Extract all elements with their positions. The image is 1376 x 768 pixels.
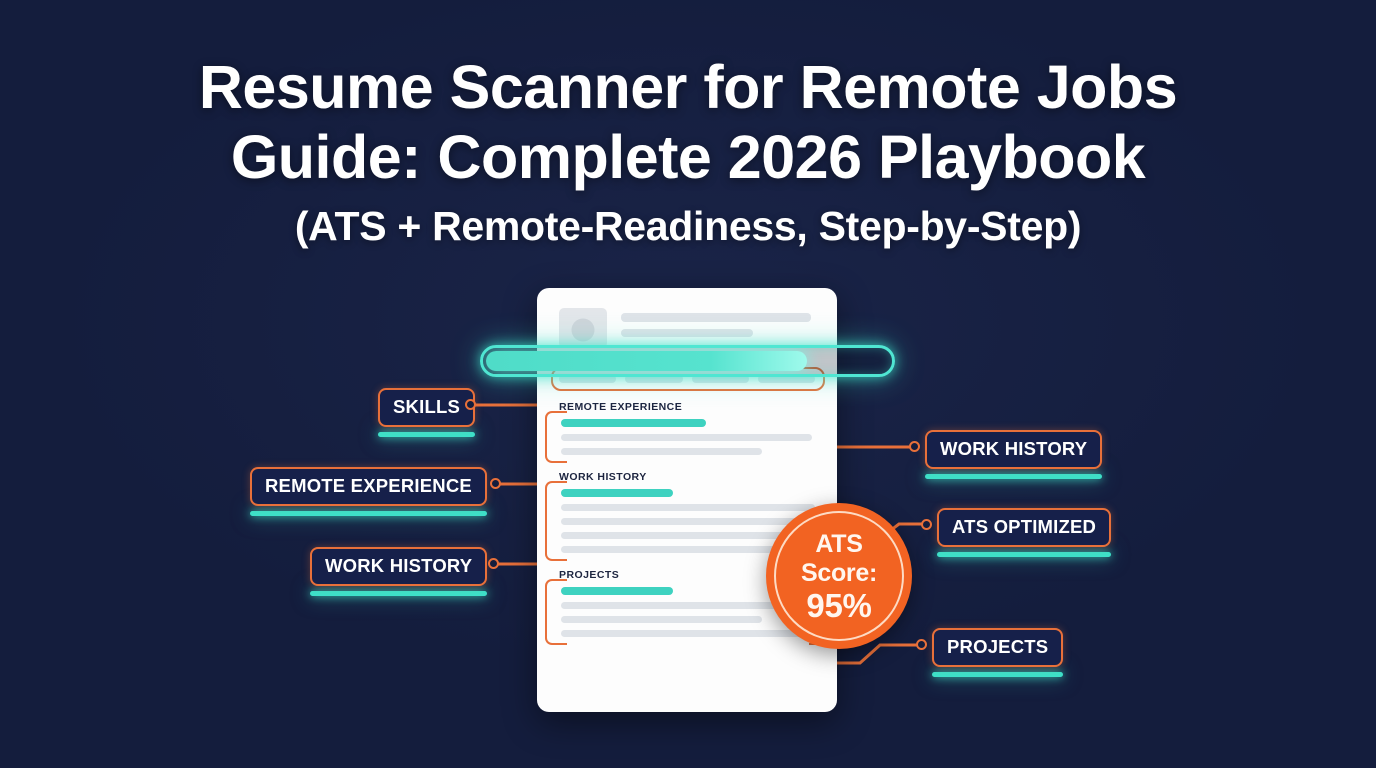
callout-right-work-history-label: WORK HISTORY [925,430,1102,469]
ats-badge-line-1: ATS [815,530,862,558]
infographic-canvas: Resume Scanner for Remote Jobs Guide: Co… [0,0,1376,768]
callout-left-skills[interactable]: SKILLS [378,388,475,437]
callout-right-ats-optimized-dot [921,519,932,530]
heading-block: Resume Scanner for Remote Jobs Guide: Co… [0,52,1376,254]
resume-header [559,308,815,348]
page-title-line-2: Guide: Complete 2026 Playbook [0,122,1376,192]
callout-left-work-history[interactable]: WORK HISTORY [310,547,487,596]
callout-right-work-history-dot [909,441,920,452]
projects-bracket-left [545,579,567,645]
resume-section-label-work-history: WORK HISTORY [559,471,815,483]
ats-badge-line-2: Score: [801,559,877,587]
resume-section-label-remote-experience: REMOTE EXPERIENCE [559,401,815,413]
callout-right-work-history[interactable]: WORK HISTORY [925,430,1102,479]
scanner-progress-fill [486,351,807,371]
callout-right-ats-optimized[interactable]: ATS OPTIMIZED [937,508,1111,557]
avatar [559,308,607,348]
callout-right-projects-dot [916,639,927,650]
callout-right-ats-optimized-label: ATS OPTIMIZED [937,508,1111,547]
work-history-bracket [545,481,567,561]
callout-right-ats-optimized-underline [937,552,1111,557]
callout-left-work-history-label: WORK HISTORY [310,547,487,586]
callout-left-skills-label: SKILLS [378,388,475,427]
callout-left-work-history-dot [488,558,499,569]
callout-left-remote-experience-dot [490,478,501,489]
scanner-progress-bar[interactable] [480,345,895,377]
callout-right-projects[interactable]: PROJECTS [932,628,1063,677]
resume-section-remote-experience: REMOTE EXPERIENCE [559,401,815,455]
ats-badge-score: 95% [801,588,877,623]
ats-score-badge[interactable]: ATS Score: 95% [766,503,912,649]
remote-experience-bracket [545,411,567,463]
callout-left-remote-experience-underline [250,511,487,516]
callout-right-projects-label: PROJECTS [932,628,1063,667]
callout-left-skills-underline [378,432,475,437]
callout-right-work-history-underline [925,474,1102,479]
callout-left-work-history-underline [310,591,487,596]
callout-right-projects-underline [932,672,1063,677]
callout-left-skills-dot [465,399,476,410]
page-title-line-1: Resume Scanner for Remote Jobs [0,52,1376,122]
page-subtitle: (ATS + Remote-Readiness, Step-by-Step) [0,198,1376,254]
avatar-circle-icon [572,318,595,341]
callout-left-remote-experience[interactable]: REMOTE EXPERIENCE [250,467,487,516]
callout-left-remote-experience-label: REMOTE EXPERIENCE [250,467,487,506]
resume-name-lines [621,308,815,337]
